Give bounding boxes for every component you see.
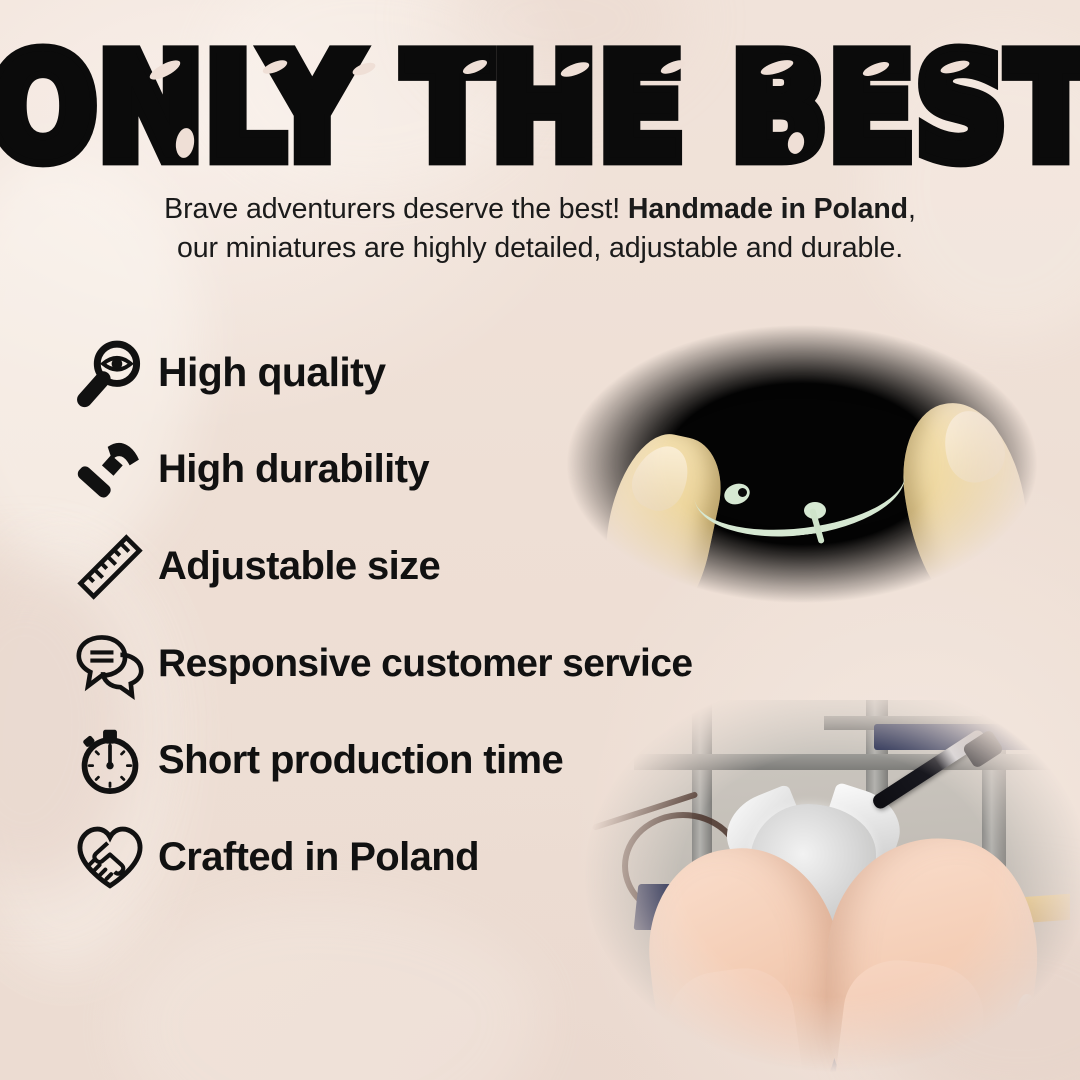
subtitle-part2: ,	[908, 193, 916, 225]
feature-item-adjustable-size: Adjustable size	[62, 518, 822, 615]
subtitle-bold: Handmade in Poland	[628, 193, 908, 225]
feature-item-short-production-time: Short production time	[62, 712, 822, 809]
feature-item-high-durability: High durability	[62, 421, 822, 518]
feature-label: Responsive customer service	[158, 642, 692, 686]
page-title: ONLY THE BEST	[0, 36, 1080, 183]
feature-list: High quality High durability	[62, 324, 822, 906]
stopwatch-icon	[62, 724, 158, 798]
feature-label: High quality	[158, 349, 385, 396]
finger	[893, 395, 1037, 606]
speech-bubbles-icon	[62, 627, 158, 701]
feature-label: Adjustable size	[158, 544, 440, 589]
subtitle: Brave adventurers deserve the best! Hand…	[90, 190, 990, 269]
feature-label: Crafted in Poland	[158, 835, 479, 880]
hammer-icon	[62, 433, 158, 507]
feature-label: High durability	[158, 447, 429, 492]
subtitle-part1: Brave adventurers deserve the best!	[164, 193, 628, 225]
heart-handshake-icon	[62, 821, 158, 895]
feature-item-responsive-customer-service: Responsive customer service	[62, 615, 822, 712]
poster-root: ONLY THE BEST Brave adventurers deserve …	[0, 0, 1080, 1080]
feature-item-crafted-in-poland: Crafted in Poland	[62, 809, 822, 906]
feature-item-high-quality: High quality	[62, 324, 822, 421]
magnifier-eye-icon	[62, 336, 158, 410]
headline-container: ONLY THE BEST	[0, 36, 1080, 162]
feature-label: Short production time	[158, 738, 563, 783]
small-miniature	[1016, 994, 1038, 1036]
ruler-icon	[62, 530, 158, 604]
subtitle-line2: our miniatures are highly detailed, adju…	[177, 232, 903, 264]
fingernail	[935, 403, 1012, 489]
